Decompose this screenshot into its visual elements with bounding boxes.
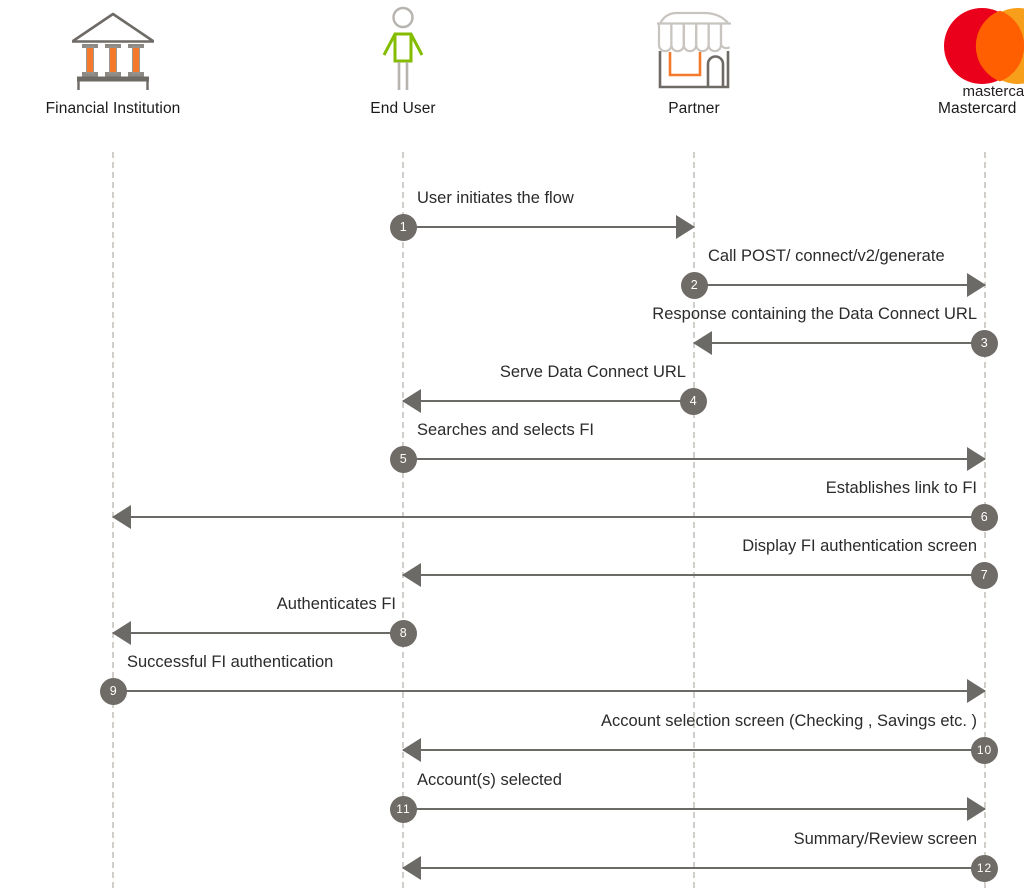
message-arrow-line [403,226,694,228]
message-arrow-line [113,690,985,692]
step-badge: 1 [390,214,417,241]
message-label: Response containing the Data Connect URL [652,304,977,324]
message-arrow-line [403,400,694,402]
message-row: 9 Successful FI authentication [113,652,985,710]
arrowhead-right-icon [967,447,986,471]
step-badge: 8 [390,620,417,647]
mastercard-wordmark: mastercard [962,83,1024,98]
step-badge: 10 [971,737,998,764]
step-badge: 7 [971,562,998,589]
message-label: Successful FI authentication [127,652,333,672]
arrowhead-right-icon [676,215,695,239]
message-row: 11 Account(s) selected [403,770,985,828]
message-label: Account selection screen (Checking , Sav… [601,711,977,731]
message-label: Serve Data Connect URL [500,362,686,382]
arrowhead-left-icon [112,621,131,645]
arrowhead-left-icon [693,331,712,355]
message-label: Summary/Review screen [794,829,977,849]
sequence-diagram: Financial Institution End User [0,0,1024,888]
message-arrow-line [113,516,985,518]
message-arrow-line [403,458,985,460]
step-badge: 11 [390,796,417,823]
step-badge: 12 [971,855,998,882]
arrowhead-right-icon [967,273,986,297]
step-badge: 2 [681,272,708,299]
mastercard-logo-icon: mastercard [905,0,1024,100]
step-badge: 5 [390,446,417,473]
message-row: 7 Display FI authentication screen [403,536,985,594]
message-arrow-line [403,749,985,751]
message-arrow-line [403,574,985,576]
message-label: Display FI authentication screen [742,536,977,556]
message-row: 8 Authenticates FI [113,594,404,652]
actor-label-partner: Partner [614,100,774,118]
message-label: Call POST/ connect/v2/generate [708,246,945,266]
message-arrow-line [694,342,985,344]
actor-label-end-user: End User [323,100,483,118]
arrowhead-left-icon [112,505,131,529]
message-row: 3 Response containing the Data Connect U… [694,304,985,362]
arrowhead-left-icon [402,389,421,413]
step-badge: 4 [680,388,707,415]
message-label: Account(s) selected [417,770,562,790]
message-row: 2 Call POST/ connect/v2/generate [694,246,985,304]
message-row: 10 Account selection screen (Checking , … [403,711,985,769]
actor-financial-institution: Financial Institution [33,0,193,140]
step-badge: 6 [971,504,998,531]
message-label: User initiates the flow [417,188,574,208]
message-label: Searches and selects FI [417,420,594,440]
arrowhead-left-icon [402,738,421,762]
message-row: 6 Establishes link to FI [113,478,985,536]
step-badge: 9 [100,678,127,705]
bank-icon [33,0,193,100]
message-arrow-line [113,632,404,634]
actor-label-mastercard: Mastercard [905,100,1024,118]
actor-mastercard: mastercard Mastercard [905,0,1024,140]
arrowhead-left-icon [402,856,421,880]
actor-partner: Partner [614,0,774,140]
actor-label-financial-institution: Financial Institution [33,100,193,118]
message-row: 4 Serve Data Connect URL [403,362,694,420]
person-icon [323,0,483,100]
actor-end-user: End User [323,0,483,140]
arrowhead-right-icon [967,797,986,821]
step-badge: 3 [971,330,998,357]
message-row: 1 User initiates the flow [403,188,694,246]
message-label: Establishes link to FI [826,478,977,498]
message-row: 12 Summary/Review screen [403,829,985,887]
message-row: 5 Searches and selects FI [403,420,985,478]
storefront-icon [614,0,774,100]
arrowhead-left-icon [402,563,421,587]
message-arrow-line [403,867,985,869]
message-label: Authenticates FI [277,594,396,614]
arrowhead-right-icon [967,679,986,703]
message-arrow-line [403,808,985,810]
message-arrow-line [694,284,985,286]
